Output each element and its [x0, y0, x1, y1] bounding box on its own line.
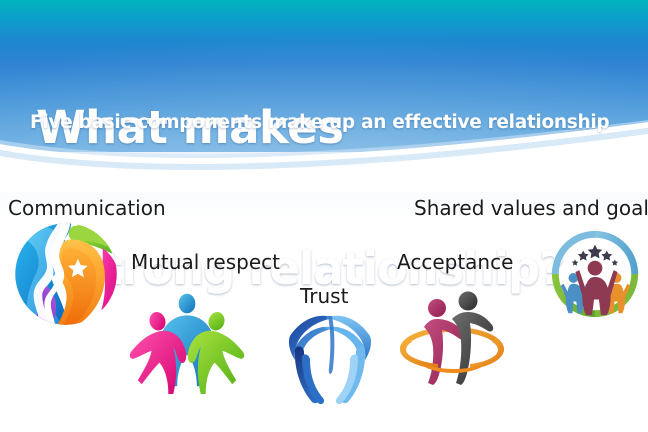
label-shared-values-and-goals: Shared values and goals	[414, 196, 648, 220]
two-people-orange-ring-icon	[396, 285, 508, 390]
label-mutual-respect: Mutual respect	[131, 250, 280, 274]
label-acceptance: Acceptance	[397, 250, 513, 274]
label-communication: Communication	[8, 196, 166, 220]
infographic-poster: What makes a strong relationship? Five b…	[0, 0, 648, 432]
two-faces-circle-icon	[12, 220, 120, 328]
poster-subtitle: Five basic components make up an effecti…	[30, 112, 640, 133]
three-people-stars-circle-icon	[546, 224, 644, 324]
blue-shield-hands-icon	[282, 306, 378, 406]
three-dancing-people-icon	[128, 278, 246, 396]
label-trust: Trust	[300, 284, 348, 308]
